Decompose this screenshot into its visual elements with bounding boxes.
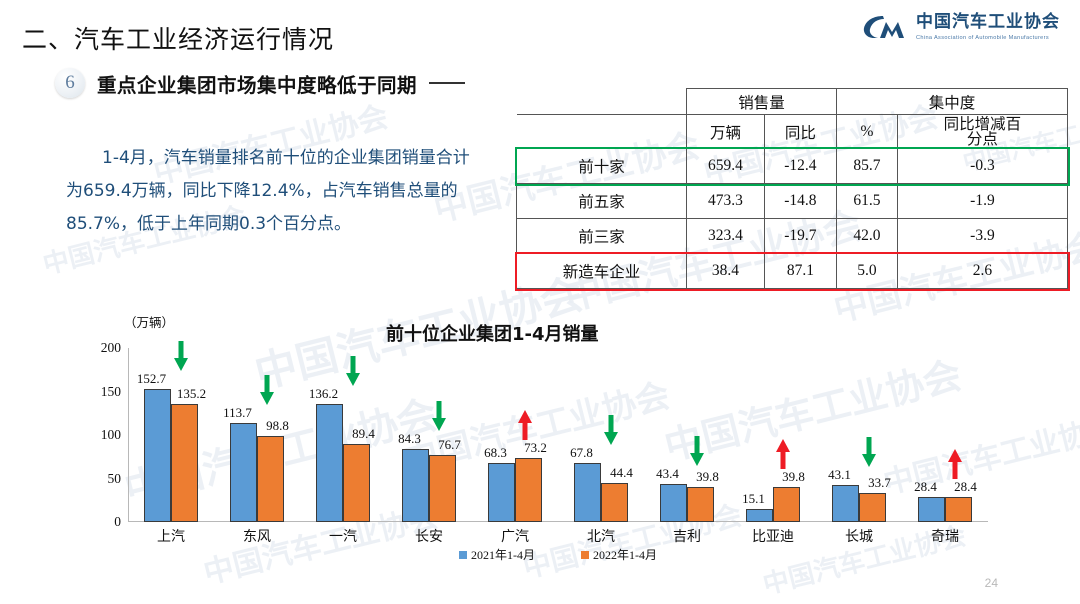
- chart-x-tick-label: 奇瑞: [931, 526, 959, 546]
- chart-x-tick-label: 长城: [845, 526, 873, 546]
- chart-y-tick: 200: [101, 340, 121, 356]
- chart-y-tick: 100: [101, 427, 121, 443]
- chart-value-label-2021: 28.4: [914, 479, 937, 495]
- chart-value-label-2021: 67.8: [570, 445, 593, 461]
- chart-legend-label: 2021年1-4月: [471, 546, 535, 563]
- chart-bar-2021: [316, 404, 343, 522]
- legend-swatch-icon: [581, 551, 589, 559]
- arrow-down-icon: [690, 436, 704, 466]
- table-corner-cell-2: [517, 115, 687, 149]
- chart-value-label-2021: 43.4: [656, 466, 679, 482]
- caam-logo: 中国汽车工业协会 China Association of Automobile…: [861, 10, 1060, 44]
- table-row: 前五家473.3-14.861.5-1.9: [517, 184, 1068, 219]
- arrow-down-icon: [174, 341, 188, 371]
- chart-bar-group: 152.7135.2上汽: [128, 348, 214, 522]
- concentration-table-wrapper: 销售量 集中度 万辆 同比 % 同比增减百 分点 前十家659.4-12.485…: [516, 88, 1068, 289]
- chart-y-tick: 150: [101, 384, 121, 400]
- table-row: 前十家659.4-12.485.7-0.3: [517, 149, 1068, 184]
- arrow-up-icon: [776, 439, 790, 469]
- chart-value-label-2022: 135.2: [177, 386, 206, 402]
- chart-value-label-2022: 33.7: [868, 475, 891, 491]
- chart-value-label-2022: 39.8: [782, 469, 805, 485]
- chart-bar-2022: [257, 436, 284, 522]
- chart-title: 前十位企业集团1-4月销量: [386, 320, 599, 346]
- summary-paragraph: 1-4月，汽车销量排名前十位的企业集团销量合计为659.4万辆，同比下降12.4…: [66, 142, 486, 241]
- chart-value-label-2021: 113.7: [223, 405, 252, 421]
- arrow-up-icon: [518, 410, 532, 440]
- chart-value-label-2021: 136.2: [309, 386, 338, 402]
- table-cell-share: 5.0: [836, 254, 897, 289]
- chart-bar-group: 43.133.7长城: [816, 348, 902, 522]
- logo-text-en: China Association of Automobile Manufact…: [916, 35, 1060, 41]
- chart-bar-2022: [687, 487, 714, 522]
- table-cell-volume: 473.3: [687, 184, 765, 219]
- table-cell-share: 42.0: [836, 219, 897, 254]
- chart-bar-2021: [402, 449, 429, 522]
- chart-bar-2022: [515, 458, 542, 522]
- subheading-text: 重点企业集团市场集中度略低于同期: [97, 69, 417, 98]
- chart-bar-group: 43.439.8吉利: [644, 348, 730, 522]
- table-cell-volume: 659.4: [687, 149, 765, 184]
- chart-legend: 2021年1-4月2022年1-4月: [128, 546, 988, 563]
- chart-bar-2021: [660, 484, 687, 522]
- chart-x-tick-label: 北汽: [587, 526, 615, 546]
- table-cell-yoy: 87.1: [764, 254, 836, 289]
- table-cell-share-change: -1.9: [897, 184, 1067, 219]
- chart-bar-2021: [746, 509, 773, 522]
- chart-value-label-2022: 89.4: [352, 426, 375, 442]
- table-cell-yoy: -19.7: [764, 219, 836, 254]
- table-cell-share-change: 2.6: [897, 254, 1067, 289]
- chart-x-tick-label: 比亚迪: [752, 526, 794, 546]
- page-number: 24: [985, 576, 998, 590]
- table-cell-share-change: -3.9: [897, 219, 1067, 254]
- table-cell-share-change: -0.3: [897, 149, 1067, 184]
- chart-legend-label: 2022年1-4月: [593, 546, 657, 563]
- table-group-header-concentration: 集中度: [836, 89, 1067, 115]
- chart-bar-2022: [343, 444, 370, 522]
- chart-bar-2022: [773, 487, 800, 522]
- chart-value-label-2022: 98.8: [266, 418, 289, 434]
- chart-x-tick-label: 长安: [415, 526, 443, 546]
- section-number-badge: 6: [55, 68, 85, 98]
- table-row: 前三家323.4-19.742.0-3.9: [517, 219, 1068, 254]
- chart-value-label-2021: 43.1: [828, 467, 851, 483]
- chart-x-tick-label: 上汽: [157, 526, 185, 546]
- chart-bar-2022: [429, 455, 456, 522]
- chart-value-label-2021: 68.3: [484, 445, 507, 461]
- arrow-down-icon: [346, 356, 360, 386]
- chart-bar-2021: [574, 463, 601, 522]
- chart-value-label-2022: 39.8: [696, 469, 719, 485]
- chart-value-label-2021: 152.7: [137, 371, 166, 387]
- logo-text-cn: 中国汽车工业协会: [916, 13, 1060, 32]
- table-cell-label: 前五家: [517, 184, 687, 219]
- concentration-table: 销售量 集中度 万辆 同比 % 同比增减百 分点 前十家659.4-12.485…: [516, 88, 1068, 289]
- chart-value-label-2021: 84.3: [398, 431, 421, 447]
- arrow-down-icon: [604, 415, 618, 445]
- page-title: 二、汽车工业经济运行情况: [22, 20, 334, 56]
- chart-legend-item: 2022年1-4月: [581, 546, 657, 563]
- chart-value-label-2021: 15.1: [742, 491, 765, 507]
- chart-bar-group: 15.139.8比亚迪: [730, 348, 816, 522]
- chart-bar-group: 28.428.4奇瑞: [902, 348, 988, 522]
- chart-x-tick-label: 一汽: [329, 526, 357, 546]
- table-subheader-percent: %: [836, 115, 897, 149]
- table-row: 新造车企业38.487.15.02.6: [517, 254, 1068, 289]
- chart-bar-2022: [601, 483, 628, 522]
- chart-bar-2021: [918, 497, 945, 522]
- chart-bar-2022: [171, 404, 198, 522]
- chart-bar-2022: [859, 493, 886, 522]
- chart-value-label-2022: 28.4: [954, 479, 977, 495]
- chart-plot-area: 050100150200152.7135.2上汽113.798.8东风136.2…: [128, 348, 988, 522]
- chart-bar-group: 68.373.2广汽: [472, 348, 558, 522]
- chart-bar-2022: [945, 497, 972, 522]
- sales-bar-chart: （万辆） 前十位企业集团1-4月销量 050100150200152.7135.…: [96, 312, 996, 562]
- chart-bar-2021: [230, 423, 257, 522]
- table-group-header-sales: 销售量: [687, 89, 837, 115]
- table-corner-cell: [517, 89, 687, 115]
- table-cell-share: 61.5: [836, 184, 897, 219]
- subheading-rule: [429, 82, 465, 84]
- chart-y-tick: 50: [108, 471, 122, 487]
- table-subheader-volume: 万辆: [687, 115, 765, 149]
- arrow-down-icon: [862, 437, 876, 467]
- table-cell-yoy: -12.4: [764, 149, 836, 184]
- caam-logo-icon: [861, 10, 907, 44]
- pp-change-line1: 同比增减百: [898, 117, 1067, 132]
- chart-x-tick-label: 吉利: [673, 526, 701, 546]
- chart-x-tick-label: 广汽: [501, 526, 529, 546]
- table-subheader-yoy: 同比: [764, 115, 836, 149]
- chart-bar-group: 113.798.8东风: [214, 348, 300, 522]
- chart-bar-group: 84.376.7长安: [386, 348, 472, 522]
- chart-bar-2021: [144, 389, 171, 522]
- pp-change-line2: 分点: [898, 132, 1067, 147]
- table-header-row-2: 万辆 同比 % 同比增减百 分点: [517, 115, 1068, 149]
- table-cell-label: 前十家: [517, 149, 687, 184]
- table-subheader-pp-change: 同比增减百 分点: [897, 115, 1067, 149]
- table-cell-share: 85.7: [836, 149, 897, 184]
- table-header-row-1: 销售量 集中度: [517, 89, 1068, 115]
- chart-bar-2021: [832, 485, 859, 522]
- chart-bar-group: 136.289.4一汽: [300, 348, 386, 522]
- subheading-block: 6 重点企业集团市场集中度略低于同期: [55, 68, 465, 98]
- chart-bar-group: 67.844.4北汽: [558, 348, 644, 522]
- chart-y-tick: 0: [114, 514, 121, 530]
- chart-legend-item: 2021年1-4月: [459, 546, 535, 563]
- table-cell-yoy: -14.8: [764, 184, 836, 219]
- arrow-up-icon: [948, 449, 962, 479]
- chart-value-label-2022: 73.2: [524, 440, 547, 456]
- chart-bar-2021: [488, 463, 515, 522]
- legend-swatch-icon: [459, 551, 467, 559]
- chart-x-tick-label: 东风: [243, 526, 271, 546]
- arrow-down-icon: [260, 375, 274, 405]
- table-cell-volume: 323.4: [687, 219, 765, 254]
- table-cell-volume: 38.4: [687, 254, 765, 289]
- arrow-down-icon: [432, 401, 446, 431]
- chart-unit-label: （万辆）: [124, 312, 174, 331]
- chart-value-label-2022: 76.7: [438, 437, 461, 453]
- table-cell-label: 新造车企业: [517, 254, 687, 289]
- table-cell-label: 前三家: [517, 219, 687, 254]
- chart-value-label-2022: 44.4: [610, 465, 633, 481]
